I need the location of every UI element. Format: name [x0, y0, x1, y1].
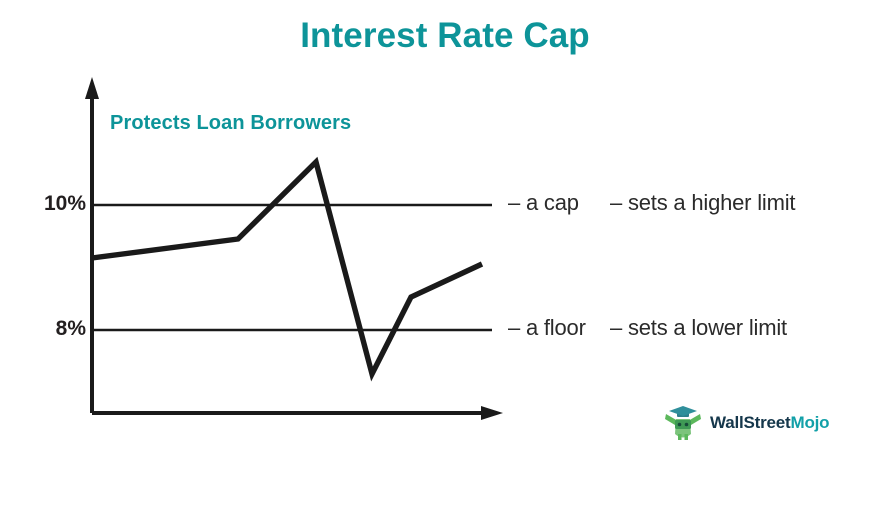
interest-rate-series-line [92, 162, 482, 374]
brand-wordmark: WallStreetMojo [710, 413, 829, 433]
y-axis [85, 77, 99, 413]
bull-graduate-logo-icon [663, 404, 703, 442]
chart-canvas: Interest Rate Cap Protects Loan Borrower… [0, 0, 890, 517]
annotation-cap-description: – sets a higher limit [610, 190, 795, 216]
annotation-floor-description: – sets a lower limit [610, 315, 787, 341]
brand-logo: WallStreetMojo [663, 404, 829, 442]
x-axis [92, 406, 503, 420]
annotation-floor-label: – a floor [508, 315, 586, 341]
brand-name-primary: WallStreet [710, 413, 791, 432]
x-axis-arrow-icon [481, 406, 503, 420]
brand-name-secondary: Mojo [791, 413, 830, 432]
annotation-cap-label: – a cap [508, 190, 579, 216]
y-axis-arrow-icon [85, 77, 99, 99]
